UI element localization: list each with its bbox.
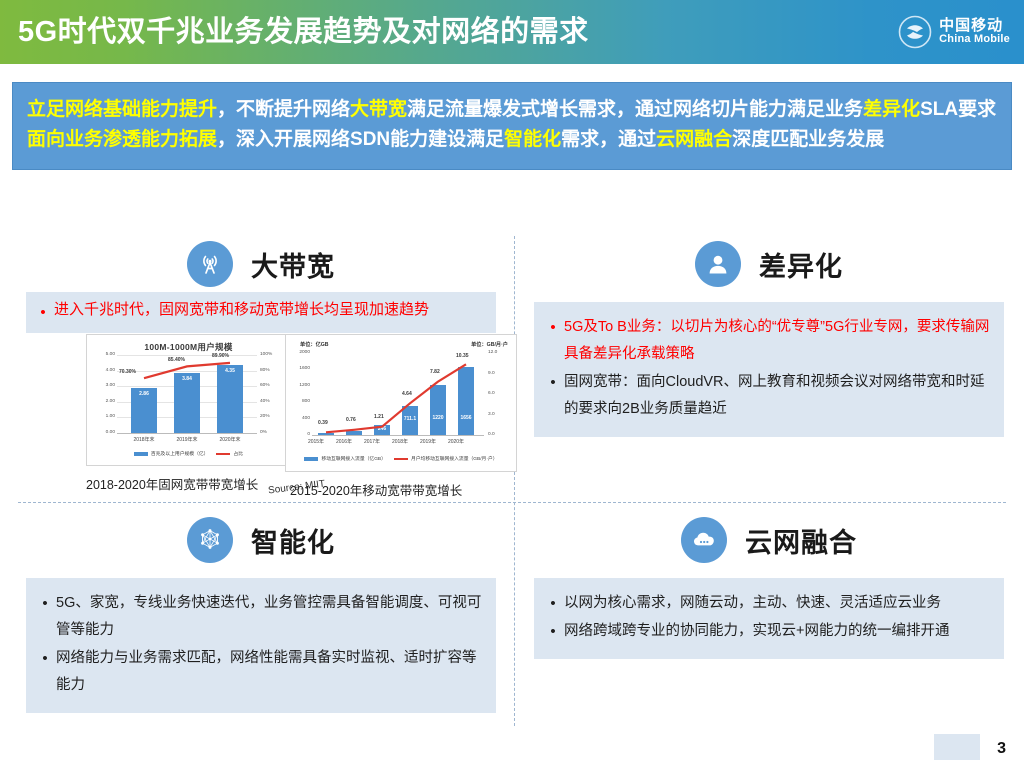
legend-item-line: 占比 <box>216 450 243 457</box>
m-y-tick-left-1: 400 <box>286 416 310 421</box>
page-number: 3 <box>997 740 1006 758</box>
y-tick-left-5: 5.00 <box>89 352 115 357</box>
m-legend-line-label: 月户均移动互联网接入流量（GB/月·户） <box>411 455 498 462</box>
quadrant-bandwidth-header: 大带宽 <box>26 236 496 292</box>
legend-item-bar: 百兆及以上用户规模（亿） <box>134 450 209 457</box>
intro-l2-seg5: 云网融合 <box>656 129 732 150</box>
m-y-tick-right-4: 12.0 <box>488 350 514 355</box>
m-legend-bar-label: 移动互联网接入流量（亿GB） <box>321 455 386 462</box>
point-label-2020: 10.35 <box>456 353 469 359</box>
x-tick-2020: 2020年末 <box>203 436 257 443</box>
m-legend-item-line: 月户均移动互联网接入流量（GB/月·户） <box>394 455 498 462</box>
quadrant-differentiation-header: 差异化 <box>534 236 1004 292</box>
brand-name-cn: 中国移动 <box>939 18 1010 34</box>
bullet-dot-icon: • <box>542 618 564 645</box>
y-tick-left-4: 4.00 <box>89 368 115 373</box>
legend-bar-swatch-icon <box>304 457 318 461</box>
cloud-network-bullet-box: • 以网为核心需求，网随云动，主动、快速、灵活适应云业务 • 网络跨域跨专业的协… <box>534 578 1004 659</box>
intro-l1-seg2: ，不断提升网络 <box>217 99 350 120</box>
mobile-chart-legend: 移动互联网接入流量（亿GB） 月户均移动互联网接入流量（GB/月·户） <box>286 455 516 462</box>
intro-l2-seg4: 需求，通过 <box>561 129 656 150</box>
cloud-network-bullet-1: • 以网为核心需求，网随云动，主动、快速、灵活适应云业务 <box>542 590 992 617</box>
pct-label-2019: 85.40% <box>168 357 185 363</box>
fixed-chart-caption: 2018-2020年固网宽带带宽增长 <box>86 474 258 493</box>
intro-l1-seg1: 立足网络基础能力提升 <box>27 99 217 120</box>
quadrant-differentiation-title: 差异化 <box>759 245 843 284</box>
fixed-chart-plot: 2.86 3.84 4.35 70.30% 85.40% 89.90% <box>117 355 257 433</box>
m-y-tick-right-2: 6.0 <box>488 391 514 396</box>
quadrant-cloud-network: 云网融合 • 以网为核心需求，网随云动，主动、快速、灵活适应云业务 • 网络跨域… <box>534 512 1004 659</box>
china-mobile-logo-icon <box>898 15 932 49</box>
intro-line-2: 面向业务渗透能力拓展，深入开展网络SDN能力建设满足智能化需求，通过云网融合深度… <box>27 125 997 155</box>
intelligence-bullet-2-text: 网络能力与业务需求匹配，网络性能需具备实时监视、适时扩容等能力 <box>56 645 484 699</box>
mobile-chart-line <box>312 353 484 435</box>
intro-l1-seg3: 大带宽 <box>350 99 407 120</box>
fixed-chart-line <box>117 355 257 433</box>
quadrant-intelligence-title: 智能化 <box>251 521 335 560</box>
intro-l2-seg3: 智能化 <box>504 129 561 150</box>
differentiation-bullet-1: • 5G及To B业务：以切片为核心的“优专尊”5G行业专网，要求传输网具备差异… <box>542 314 992 368</box>
cloud-network-bullet-2: • 网络跨域跨专业的协同能力，实现云+网能力的统一编排开通 <box>542 618 992 645</box>
differentiation-bullet-box: • 5G及To B业务：以切片为核心的“优专尊”5G行业专网，要求传输网具备差异… <box>534 302 1004 437</box>
vertical-divider <box>514 236 515 726</box>
cloud-network-bullet-2-text: 网络跨域跨专业的协同能力，实现云+网能力的统一编排开通 <box>564 618 992 645</box>
m-y-tick-left-3: 1200 <box>286 383 310 388</box>
legend-bar-swatch-icon <box>134 452 148 456</box>
intelligence-bullet-1-text: 5G、家宽，专线业务快速迭代，业务管控需具备智能调度、可视可管等能力 <box>56 590 484 644</box>
quadrant-intelligence-header: 智能化 <box>26 512 496 568</box>
mobile-chart-unit-left: 单位：亿GB <box>300 341 329 348</box>
legend-bar-label: 百兆及以上用户规模（亿） <box>151 450 209 457</box>
y-tick-left-3: 3.00 <box>89 383 115 388</box>
m-y-tick-left-4: 1600 <box>286 366 310 371</box>
intro-l1-seg4: 满足流量爆发式增长需求，通过网络切片能力满足业务 <box>407 99 863 120</box>
point-label-2015: 0.39 <box>318 420 328 426</box>
quadrant-bandwidth-title: 大带宽 <box>251 245 335 284</box>
bandwidth-note-row: • 进入千兆时代，固网宽带和移动宽带增长均呈现加速趋势 <box>32 299 486 326</box>
intro-line-1: 立足网络基础能力提升，不断提升网络大带宽满足流量爆发式增长需求，通过网络切片能力… <box>27 95 997 125</box>
mobile-chart-unit-right: 单位：GB/月·户 <box>471 341 508 348</box>
bullet-dot-icon: • <box>32 299 54 326</box>
footer-accent-block <box>934 734 980 760</box>
brand-name-en: China Mobile <box>939 34 1010 46</box>
quadrant-differentiation: 差异化 • 5G及To B业务：以切片为核心的“优专尊”5G行业专网，要求传输网… <box>534 236 1004 437</box>
m-y-tick-right-1: 3.0 <box>488 412 514 417</box>
intro-l2-seg1: 面向业务渗透能力拓展 <box>27 129 217 150</box>
m-y-tick-right-3: 9.0 <box>488 371 514 376</box>
brand-text: 中国移动 China Mobile <box>939 18 1010 45</box>
intelligence-bullet-2: • 网络能力与业务需求匹配，网络性能需具备实时监视、适时扩容等能力 <box>34 645 484 699</box>
differentiation-bullet-2-text: 固网宽带：面向CloudVR、网上教育和视频会议对网络带宽和时延的要求向2B业务… <box>564 369 992 423</box>
bullet-dot-icon: • <box>34 645 56 672</box>
brand-logo: 中国移动 China Mobile <box>898 10 1010 54</box>
bullet-dot-icon: • <box>542 590 564 617</box>
pct-label-2020: 89.90% <box>212 353 229 359</box>
mobile-broadband-chart: 单位：亿GB 单位：GB/月·户 246 711.1 1220 <box>285 334 517 472</box>
intro-l1-seg5: 差异化 <box>863 99 920 120</box>
fixed-broadband-chart: 100M-1000M用户规模 2.86 3.84 4.35 <box>86 334 291 466</box>
user-person-icon <box>695 241 741 287</box>
slide-header-bar: 5G时代双千兆业务发展趋势及对网络的需求 中国移动 China Mobile <box>0 0 1024 64</box>
differentiation-bullet-1-text: 5G及To B业务：以切片为核心的“优专尊”5G行业专网，要求传输网具备差异化承… <box>564 314 992 368</box>
quadrant-intelligence: 智能化 • 5G、家宽，专线业务快速迭代，业务管控需具备智能调度、可视可管等能力… <box>26 512 496 713</box>
mobile-chart-plot: 246 711.1 1220 1656 0.39 0.76 <box>312 353 484 435</box>
intelligence-bullet-1: • 5G、家宽，专线业务快速迭代，业务管控需具备智能调度、可视可管等能力 <box>34 590 484 644</box>
point-label-2016: 0.76 <box>346 417 356 423</box>
legend-line-swatch-icon <box>216 453 230 455</box>
point-label-2019: 7.82 <box>430 369 440 375</box>
quadrant-cloud-network-header: 云网融合 <box>534 512 1004 568</box>
legend-line-swatch-icon <box>394 458 408 460</box>
point-label-2017: 1.21 <box>374 414 384 420</box>
point-label-2018: 4.64 <box>402 391 412 397</box>
quadrant-grid: 大带宽 • 进入千兆时代，固网宽带和移动宽带增长均呈现加速趋势 100M-100… <box>18 236 1006 726</box>
m-y-tick-left-0: 0 <box>286 432 310 437</box>
quadrant-bandwidth: 大带宽 • 进入千兆时代，固网宽带和移动宽带增长均呈现加速趋势 100M-100… <box>26 236 496 333</box>
bullet-dot-icon: • <box>542 369 564 396</box>
intro-l2-seg2: ，深入开展网络SDN能力建设满足 <box>217 129 504 150</box>
pct-label-2018: 70.30% <box>119 369 136 375</box>
page-title: 5G时代双千兆业务发展趋势及对网络的需求 <box>18 14 589 50</box>
horizontal-divider <box>18 502 1006 503</box>
y-tick-left-2: 2.00 <box>89 399 115 404</box>
bandwidth-note-text: 进入千兆时代，固网宽带和移动宽带增长均呈现加速趋势 <box>54 299 486 321</box>
charts-area: 100M-1000M用户规模 2.86 3.84 4.35 <box>38 334 508 494</box>
quadrant-cloud-network-title: 云网融合 <box>745 521 857 560</box>
m-y-tick-left-2: 800 <box>286 399 310 404</box>
m-y-tick-right-0: 0.0 <box>488 432 514 437</box>
broadcast-antenna-icon <box>187 241 233 287</box>
differentiation-bullet-2: • 固网宽带：面向CloudVR、网上教育和视频会议对网络带宽和时延的要求向2B… <box>542 369 992 423</box>
m-legend-item-bar: 移动互联网接入流量（亿GB） <box>304 455 386 462</box>
cloud-network-bullet-1-text: 以网为核心需求，网随云动，主动、快速、灵活适应云业务 <box>564 590 992 617</box>
m-y-tick-left-5: 2000 <box>286 350 310 355</box>
intro-l1-seg6: SLA要求 <box>920 99 996 120</box>
intelligence-bullet-box: • 5G、家宽，专线业务快速迭代，业务管控需具备智能调度、可视可管等能力 • 网… <box>26 578 496 713</box>
bullet-dot-icon: • <box>34 590 56 617</box>
cloud-icon <box>681 517 727 563</box>
intro-banner: 立足网络基础能力提升，不断提升网络大带宽满足流量爆发式增长需求，通过网络切片能力… <box>12 82 1012 170</box>
intro-l2-seg6: 深度匹配业务发展 <box>732 129 884 150</box>
bandwidth-note-box: • 进入千兆时代，固网宽带和移动宽带增长均呈现加速趋势 <box>26 292 496 333</box>
fixed-chart-legend: 百兆及以上用户规模（亿） 占比 <box>87 450 290 457</box>
bullet-dot-icon: • <box>542 314 564 341</box>
neural-network-icon <box>187 517 233 563</box>
y-tick-left-1: 1.00 <box>89 414 115 419</box>
y-tick-left-0: 0.00 <box>89 430 115 435</box>
m-x-tick-2020: 2020年 <box>438 438 474 445</box>
legend-line-label: 占比 <box>233 450 243 457</box>
